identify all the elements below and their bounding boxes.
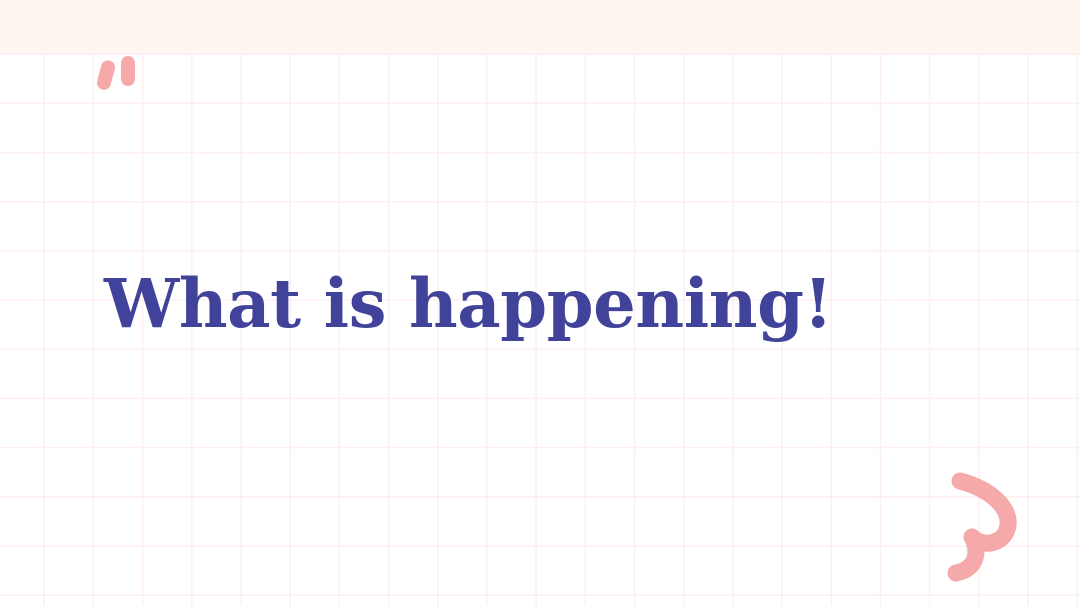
quote-bar-right bbox=[121, 56, 135, 86]
squiggle-flourish-icon bbox=[944, 465, 1040, 591]
squiggle-path bbox=[944, 465, 1040, 591]
quote-mark-icon bbox=[98, 54, 146, 94]
quote-bar-left bbox=[95, 59, 116, 91]
page-title: What is happening! bbox=[104, 266, 964, 341]
top-color-band bbox=[0, 0, 1080, 53]
slide-canvas: What is happening! bbox=[0, 0, 1080, 606]
